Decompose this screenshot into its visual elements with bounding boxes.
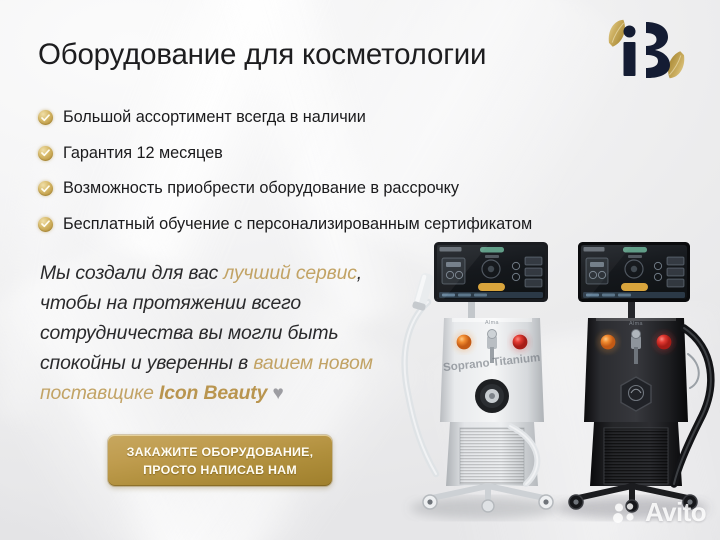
feature-label: Гарантия 12 месяцев: [63, 144, 223, 163]
svg-text:Alma: Alma: [629, 321, 643, 327]
check-circle-icon: [38, 181, 53, 196]
avito-watermark: Avito: [613, 497, 706, 528]
order-equipment-button[interactable]: ЗАКАЖИТЕ ОБОРУДОВАНИЕ, ПРОСТО НАПИСАВ НА…: [108, 435, 332, 486]
list-item: Возможность приобрести оборудование в ра…: [38, 177, 532, 200]
pitch-highlight-service: лучший сервис: [223, 262, 356, 284]
pitch-text-a: Мы создали для вас: [40, 262, 223, 284]
list-item: Бесплатный обучение с персонализированны…: [38, 213, 532, 236]
feature-label: Бесплатный обучение с персонализированны…: [63, 215, 532, 234]
list-item: Большой ассортимент всегда в наличии: [38, 106, 532, 129]
equipment-photo: Alma Soprano Titanium: [392, 236, 720, 526]
check-circle-icon: [38, 217, 53, 232]
promo-banner: Оборудование для косметологии: [0, 0, 720, 540]
page-title: Оборудование для косметологии: [38, 38, 486, 72]
feature-label: Возможность приобрести оборудование в ра…: [63, 179, 459, 198]
heart-icon: ♥: [272, 383, 283, 404]
check-circle-icon: [38, 110, 53, 125]
feature-list: Большой ассортимент всегда в наличии Гар…: [38, 106, 532, 248]
brand-name: Icon Beauty: [159, 382, 267, 404]
svg-text:Alma: Alma: [485, 320, 499, 326]
avito-logo-icon: [613, 502, 640, 524]
list-item: Гарантия 12 месяцев: [38, 142, 532, 165]
feature-label: Большой ассортимент всегда в наличии: [63, 108, 366, 127]
avito-watermark-text: Avito: [645, 497, 706, 528]
brand-logo-icon: [598, 14, 710, 88]
check-circle-icon: [38, 146, 53, 161]
pitch-paragraph: Мы создали для вас лучший сервис, чтобы …: [40, 258, 412, 409]
cta-line-2: ПРОСТО НАПИСАВ НАМ: [143, 461, 297, 479]
cta-line-1: ЗАКАЖИТЕ ОБОРУДОВАНИЕ,: [127, 443, 314, 461]
